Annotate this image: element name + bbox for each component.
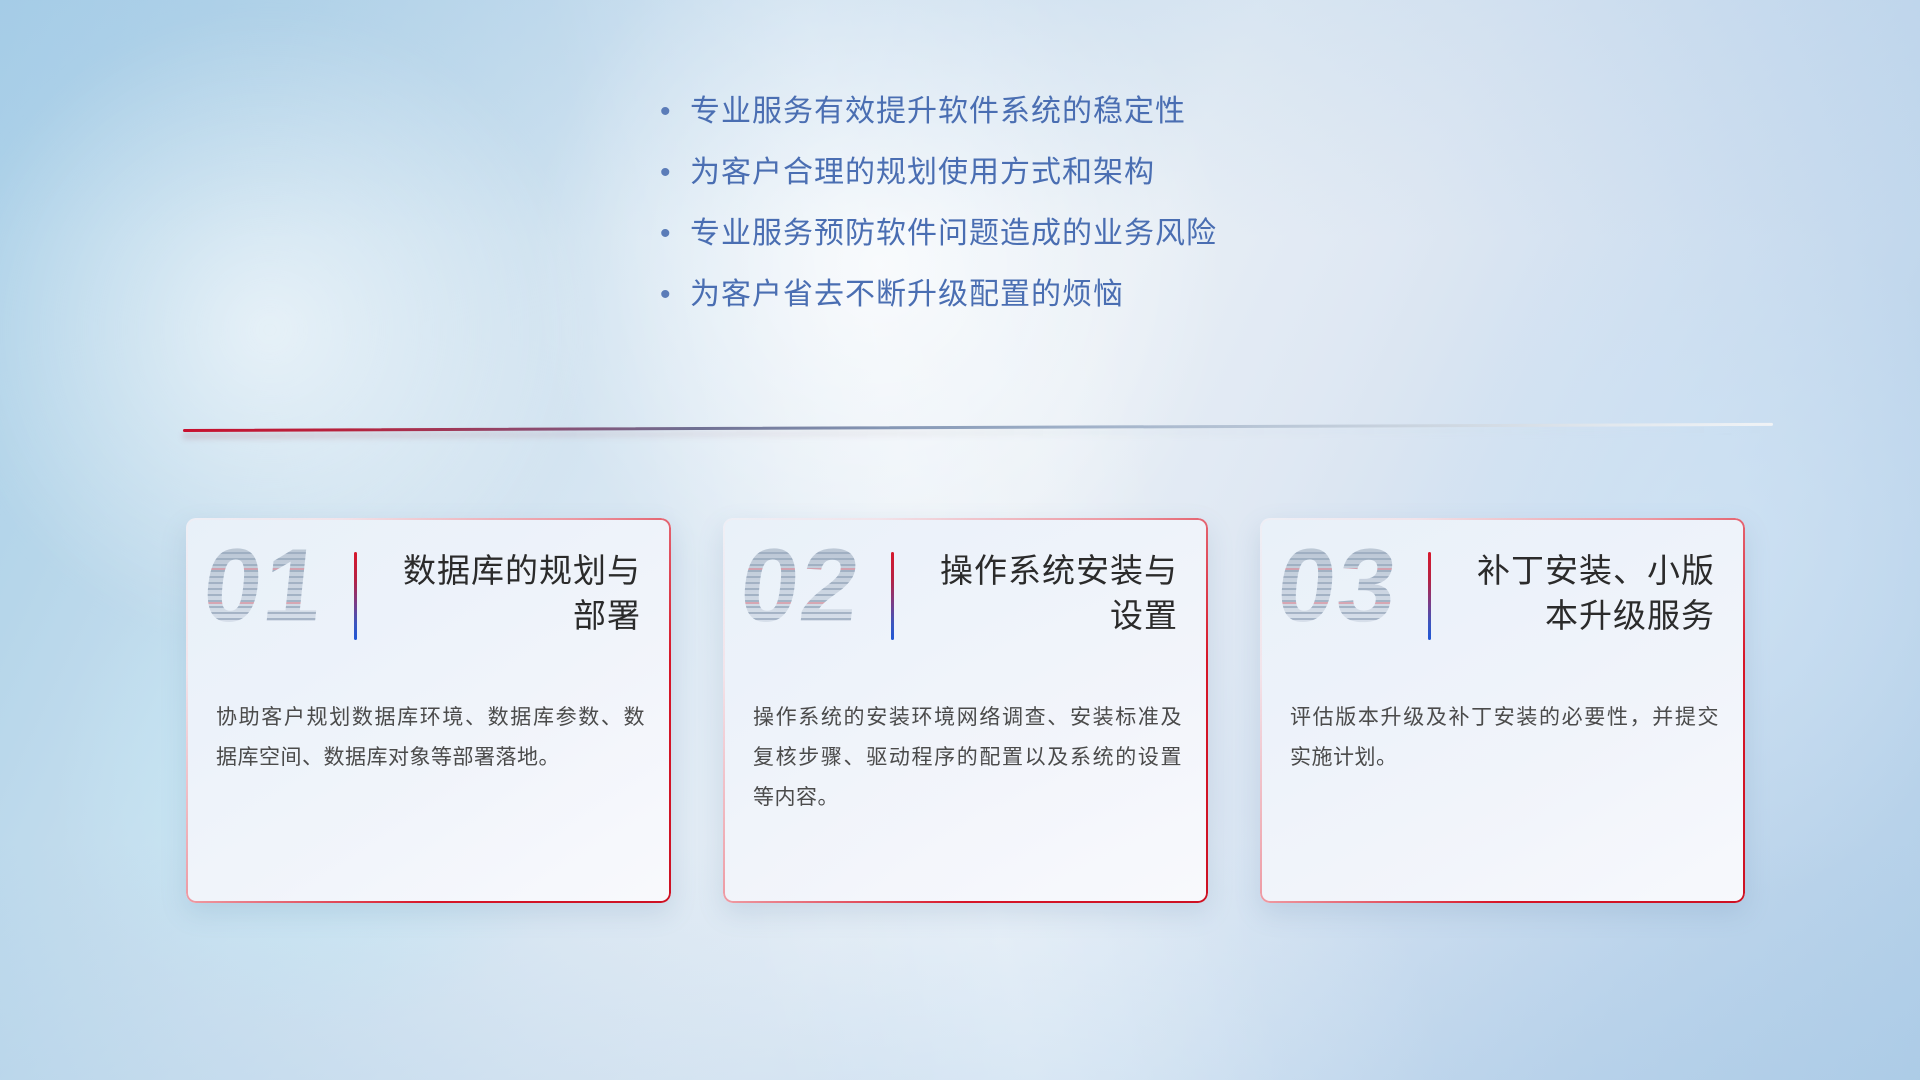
bullet-marker-icon: • (660, 214, 690, 254)
card-accent-rule-icon (891, 552, 894, 640)
card-accent-rule-icon (1428, 552, 1431, 640)
service-card-group: 01 数据库的规划与部署 协助客户规划数据库环境、数据库参数、数据库空间、数据库… (186, 518, 1746, 918)
card-body-02: 操作系统的安装环境网络调查、安装标准及复核步骤、驱动程序的配置以及系统的设置等内… (753, 698, 1182, 818)
card-title-02: 操作系统安装与设置 (916, 548, 1178, 638)
card-title-03: 补丁安装、小版本升级服务 (1453, 548, 1715, 638)
card-header-01: 数据库的规划与部署 (216, 540, 641, 660)
service-card-01[interactable]: 01 数据库的规划与部署 协助客户规划数据库环境、数据库参数、数据库空间、数据库… (186, 518, 671, 903)
bullet-text-4: 为客户省去不断升级配置的烦恼 (690, 275, 1124, 315)
bullet-item-4: • 为客户省去不断升级配置的烦恼 (660, 275, 1420, 315)
service-card-03-inner: 03 补丁安装、小版本升级服务 评估版本升级及补丁安装的必要性，并提交实施计划。 (1260, 518, 1745, 903)
bullet-text-2: 为客户合理的规划使用方式和架构 (690, 153, 1155, 193)
card-title-01: 数据库的规划与部署 (379, 548, 641, 638)
bullet-marker-icon: • (660, 92, 690, 132)
bullet-item-3: • 专业服务预防软件问题造成的业务风险 (660, 214, 1420, 254)
service-card-02[interactable]: 02 操作系统安装与设置 操作系统的安装环境网络调查、安装标准及复核步骤、驱动程… (723, 518, 1208, 903)
card-body-01: 协助客户规划数据库环境、数据库参数、数据库空间、数据库对象等部署落地。 (216, 698, 645, 778)
service-card-03[interactable]: 03 补丁安装、小版本升级服务 评估版本升级及补丁安装的必要性，并提交实施计划。 (1260, 518, 1745, 903)
bullet-item-2: • 为客户合理的规划使用方式和架构 (660, 153, 1420, 193)
bullet-text-3: 专业服务预防软件问题造成的业务风险 (690, 214, 1217, 254)
bullet-marker-icon: • (660, 275, 690, 315)
service-card-02-inner: 02 操作系统安装与设置 操作系统的安装环境网络调查、安装标准及复核步骤、驱动程… (723, 518, 1208, 903)
card-header-02: 操作系统安装与设置 (753, 540, 1178, 660)
bullet-item-1: • 专业服务有效提升软件系统的稳定性 (660, 92, 1420, 132)
bullet-list: • 专业服务有效提升软件系统的稳定性 • 为客户合理的规划使用方式和架构 • 专… (660, 92, 1420, 336)
bullet-marker-icon: • (660, 153, 690, 193)
card-body-03: 评估版本升级及补丁安装的必要性，并提交实施计划。 (1290, 698, 1719, 778)
service-card-01-inner: 01 数据库的规划与部署 协助客户规划数据库环境、数据库参数、数据库空间、数据库… (186, 518, 671, 903)
card-accent-rule-icon (354, 552, 357, 640)
section-divider (183, 426, 1773, 442)
bullet-text-1: 专业服务有效提升软件系统的稳定性 (690, 92, 1186, 132)
card-header-03: 补丁安装、小版本升级服务 (1290, 540, 1715, 660)
